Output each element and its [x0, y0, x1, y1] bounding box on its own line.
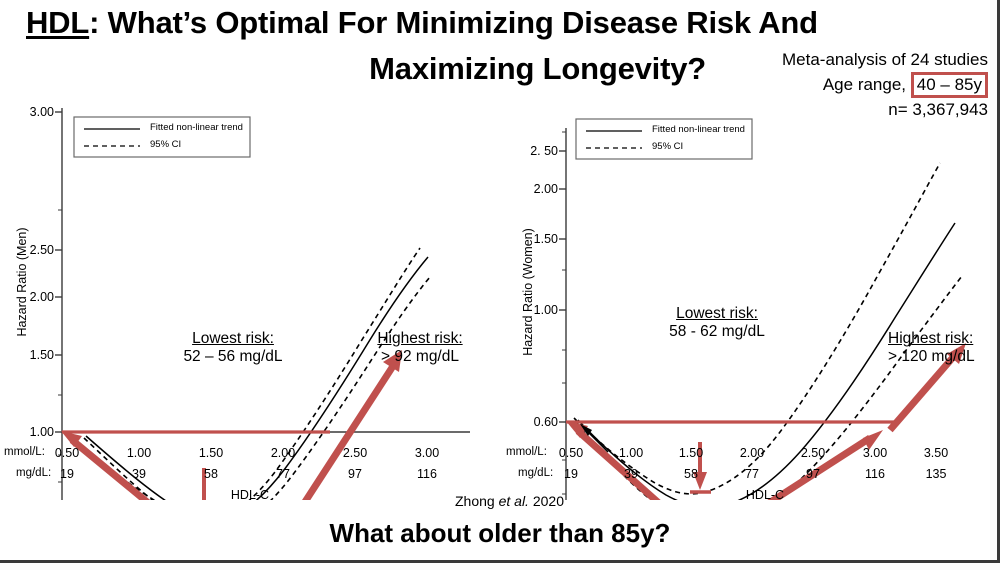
xtick-mgdl-women-6: 135 — [916, 467, 956, 481]
xtick-mmol-men-2: 1.50 — [191, 446, 231, 460]
citation-author: Zhong — [455, 493, 495, 509]
ytick-men-100: 1.00 — [8, 425, 54, 439]
annotation-highest-risk-men-value: > 92 mg/dL — [345, 348, 495, 366]
xtick-mgdl-men-1: 39 — [119, 467, 159, 481]
footer-question: What about older than 85y? — [0, 518, 1000, 549]
xtick-mmol-men-3: 2.00 — [263, 446, 303, 460]
legend-label-fitted-men: Fitted non-linear trend — [150, 122, 243, 133]
xtick-mmol-men-1: 1.00 — [119, 446, 159, 460]
annotation-lowest-risk-women-value: 58 - 62 mg/dL — [632, 323, 802, 341]
chart-men-svg — [0, 100, 500, 500]
xtick-mgdl-women-0: 19 — [551, 467, 591, 481]
xtick-mgdl-men-5: 116 — [407, 467, 447, 481]
xtick-mgdl-women-5: 116 — [855, 467, 895, 481]
annotation-lowest-risk-men-header: Lowest risk: — [148, 330, 318, 348]
chart-women-svg — [500, 100, 1000, 500]
ytick-men-300: 3.00 — [8, 105, 54, 119]
meta-studies-count: Meta-analysis of 24 studies — [700, 48, 988, 72]
page-title-line-1: HDL: What’s Optimal For Minimizing Disea… — [26, 4, 976, 41]
x-axis-title-women: HDL-C — [710, 488, 820, 502]
xtick-mmol-men-5: 3.00 — [407, 446, 447, 460]
xaxis-unit-mgdl-women: mg/dL: — [518, 467, 553, 479]
xaxis-unit-mmol-women: mmol/L: — [506, 446, 547, 458]
xtick-mmol-women-1: 1.00 — [611, 446, 651, 460]
xtick-mgdl-men-4: 97 — [335, 467, 375, 481]
citation: Zhong et al. 2020 — [455, 493, 564, 509]
meta-age-range-label: Age range, — [823, 75, 906, 94]
annotation-lowest-risk-women-header: Lowest risk: — [632, 305, 802, 323]
annotation-lowest-risk-men: Lowest risk: 52 – 56 mg/dL — [148, 330, 318, 366]
page-title-line-2: Maximizing Longevity? — [26, 50, 706, 87]
legend-label-ci-men: 95% CI — [150, 139, 181, 150]
citation-etal: et al. — [499, 493, 529, 509]
xtick-mmol-women-0: 0.50 — [551, 446, 591, 460]
ytick-women-060: 0.60 — [508, 415, 558, 429]
xtick-mmol-women-4: 2.50 — [793, 446, 833, 460]
y-ticks-major-women — [559, 151, 566, 422]
meta-age-range-value: 40 – 85y — [911, 72, 988, 98]
annotation-highest-risk-women-value: > 120 mg/dL — [888, 348, 1000, 366]
citation-year: 2020 — [533, 493, 564, 509]
annotation-lowest-risk-men-value: 52 – 56 mg/dL — [148, 348, 318, 366]
y-axis-title-women: Hazard Ratio (Women) — [521, 192, 535, 392]
arrow-low-hdl-men — [61, 431, 175, 500]
xtick-mmol-men-0: 0.50 — [47, 446, 87, 460]
title-line-1-rest: : What’s Optimal For Minimizing Disease … — [89, 5, 818, 40]
x-axis-title-men: HDL-C — [195, 488, 305, 502]
xtick-mgdl-men-3: 77 — [263, 467, 303, 481]
xtick-mmol-women-5: 3.00 — [855, 446, 895, 460]
xtick-mmol-women-6: 3.50 — [916, 446, 956, 460]
meta-age-range: Age range, 40 – 85y — [700, 72, 988, 98]
ytick-women-250: 2. 50 — [508, 144, 558, 158]
xtick-mgdl-women-4: 97 — [793, 467, 833, 481]
annotation-highest-risk-women-header: Highest risk: — [888, 330, 1000, 348]
annotation-highest-risk-men: Highest risk: > 92 mg/dL — [345, 330, 495, 366]
xtick-mgdl-men-0: 19 — [47, 467, 87, 481]
y-ticks-major-men — [55, 112, 62, 432]
annotation-highest-risk-women: Highest risk: > 120 mg/dL — [888, 330, 1000, 366]
xaxis-unit-mmol-men: mmol/L: — [4, 446, 45, 458]
annotation-lowest-risk-women: Lowest risk: 58 - 62 mg/dL — [632, 305, 802, 341]
xtick-mmol-men-4: 2.50 — [335, 446, 375, 460]
legend-label-ci-women: 95% CI — [652, 141, 683, 152]
xtick-mmol-women-3: 2.00 — [732, 446, 772, 460]
xtick-mmol-women-2: 1.50 — [671, 446, 711, 460]
title-underlined-hdl: HDL — [26, 5, 89, 40]
ci-upper-men — [78, 248, 420, 500]
xaxis-unit-mgdl-men: mg/dL: — [16, 467, 51, 479]
annotation-highest-risk-men-header: Highest risk: — [345, 330, 495, 348]
xtick-mgdl-women-3: 77 — [732, 467, 772, 481]
fitted-curve-men — [86, 257, 428, 500]
xtick-mgdl-women-1: 39 — [611, 467, 651, 481]
xtick-mgdl-men-2: 58 — [191, 467, 231, 481]
chart-hazard-ratio-women: 2. 50 2.00 1.50 1.00 0.60 Hazard Ratio (… — [500, 100, 1000, 500]
y-axis-title-men: Hazard Ratio (Men) — [15, 197, 29, 367]
legend-label-fitted-women: Fitted non-linear trend — [652, 124, 745, 135]
chart-hazard-ratio-men: 3.00 2.50 2.00 1.50 1.00 Hazard Ratio (M… — [0, 100, 500, 500]
xtick-mgdl-women-2: 58 — [671, 467, 711, 481]
